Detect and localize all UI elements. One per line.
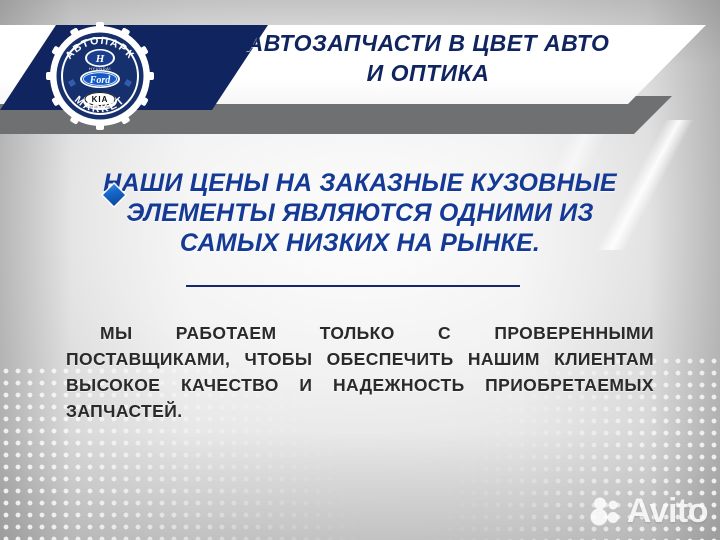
svg-text:H: H <box>95 53 105 65</box>
avito-wordmark: Avito <box>627 494 708 528</box>
header-banner: H HYUNDAI Ford KIA THE POWER TO SURPRISE… <box>0 0 720 150</box>
avtopark-market-logo: H HYUNDAI Ford KIA THE POWER TO SURPRISE… <box>46 22 154 130</box>
diamond-bullet-icon <box>101 182 127 208</box>
promo-slide: H HYUNDAI Ford KIA THE POWER TO SURPRISE… <box>0 0 720 540</box>
header-title-line-1: АВТОЗАПЧАСТИ В ЦВЕТ АВТО <box>247 30 610 56</box>
heading-line-3: САМЫХ НИЗКИХ НА РЫНКЕ. <box>60 228 660 258</box>
heading-line-1: НАШИ ЦЕНЫ НА ЗАКАЗНЫЕ КУЗОВНЫЕ <box>60 168 660 198</box>
logo-ford-label: Ford <box>89 75 112 86</box>
heading-underline-divider <box>186 285 520 287</box>
avito-watermark: Avito <box>589 494 708 528</box>
heading-line-2: ЭЛЕМЕНТЫ ЯВЛЯЮТСЯ ОДНИМИ ИЗ <box>60 198 660 228</box>
header-title: АВТОЗАПЧАСТИ В ЦВЕТ АВТО И ОПТИКА <box>228 28 628 88</box>
header-title-line-2: И ОПТИКА <box>228 58 628 88</box>
main-heading-block: НАШИ ЦЕНЫ НА ЗАКАЗНЫЕ КУЗОВНЫЕ ЭЛЕМЕНТЫ … <box>0 168 720 258</box>
body-paragraph: МЫ РАБОТАЕМ ТОЛЬКО С ПРОВЕРЕННЫМИ ПОСТАВ… <box>66 320 654 450</box>
avito-dots-icon <box>589 496 623 526</box>
